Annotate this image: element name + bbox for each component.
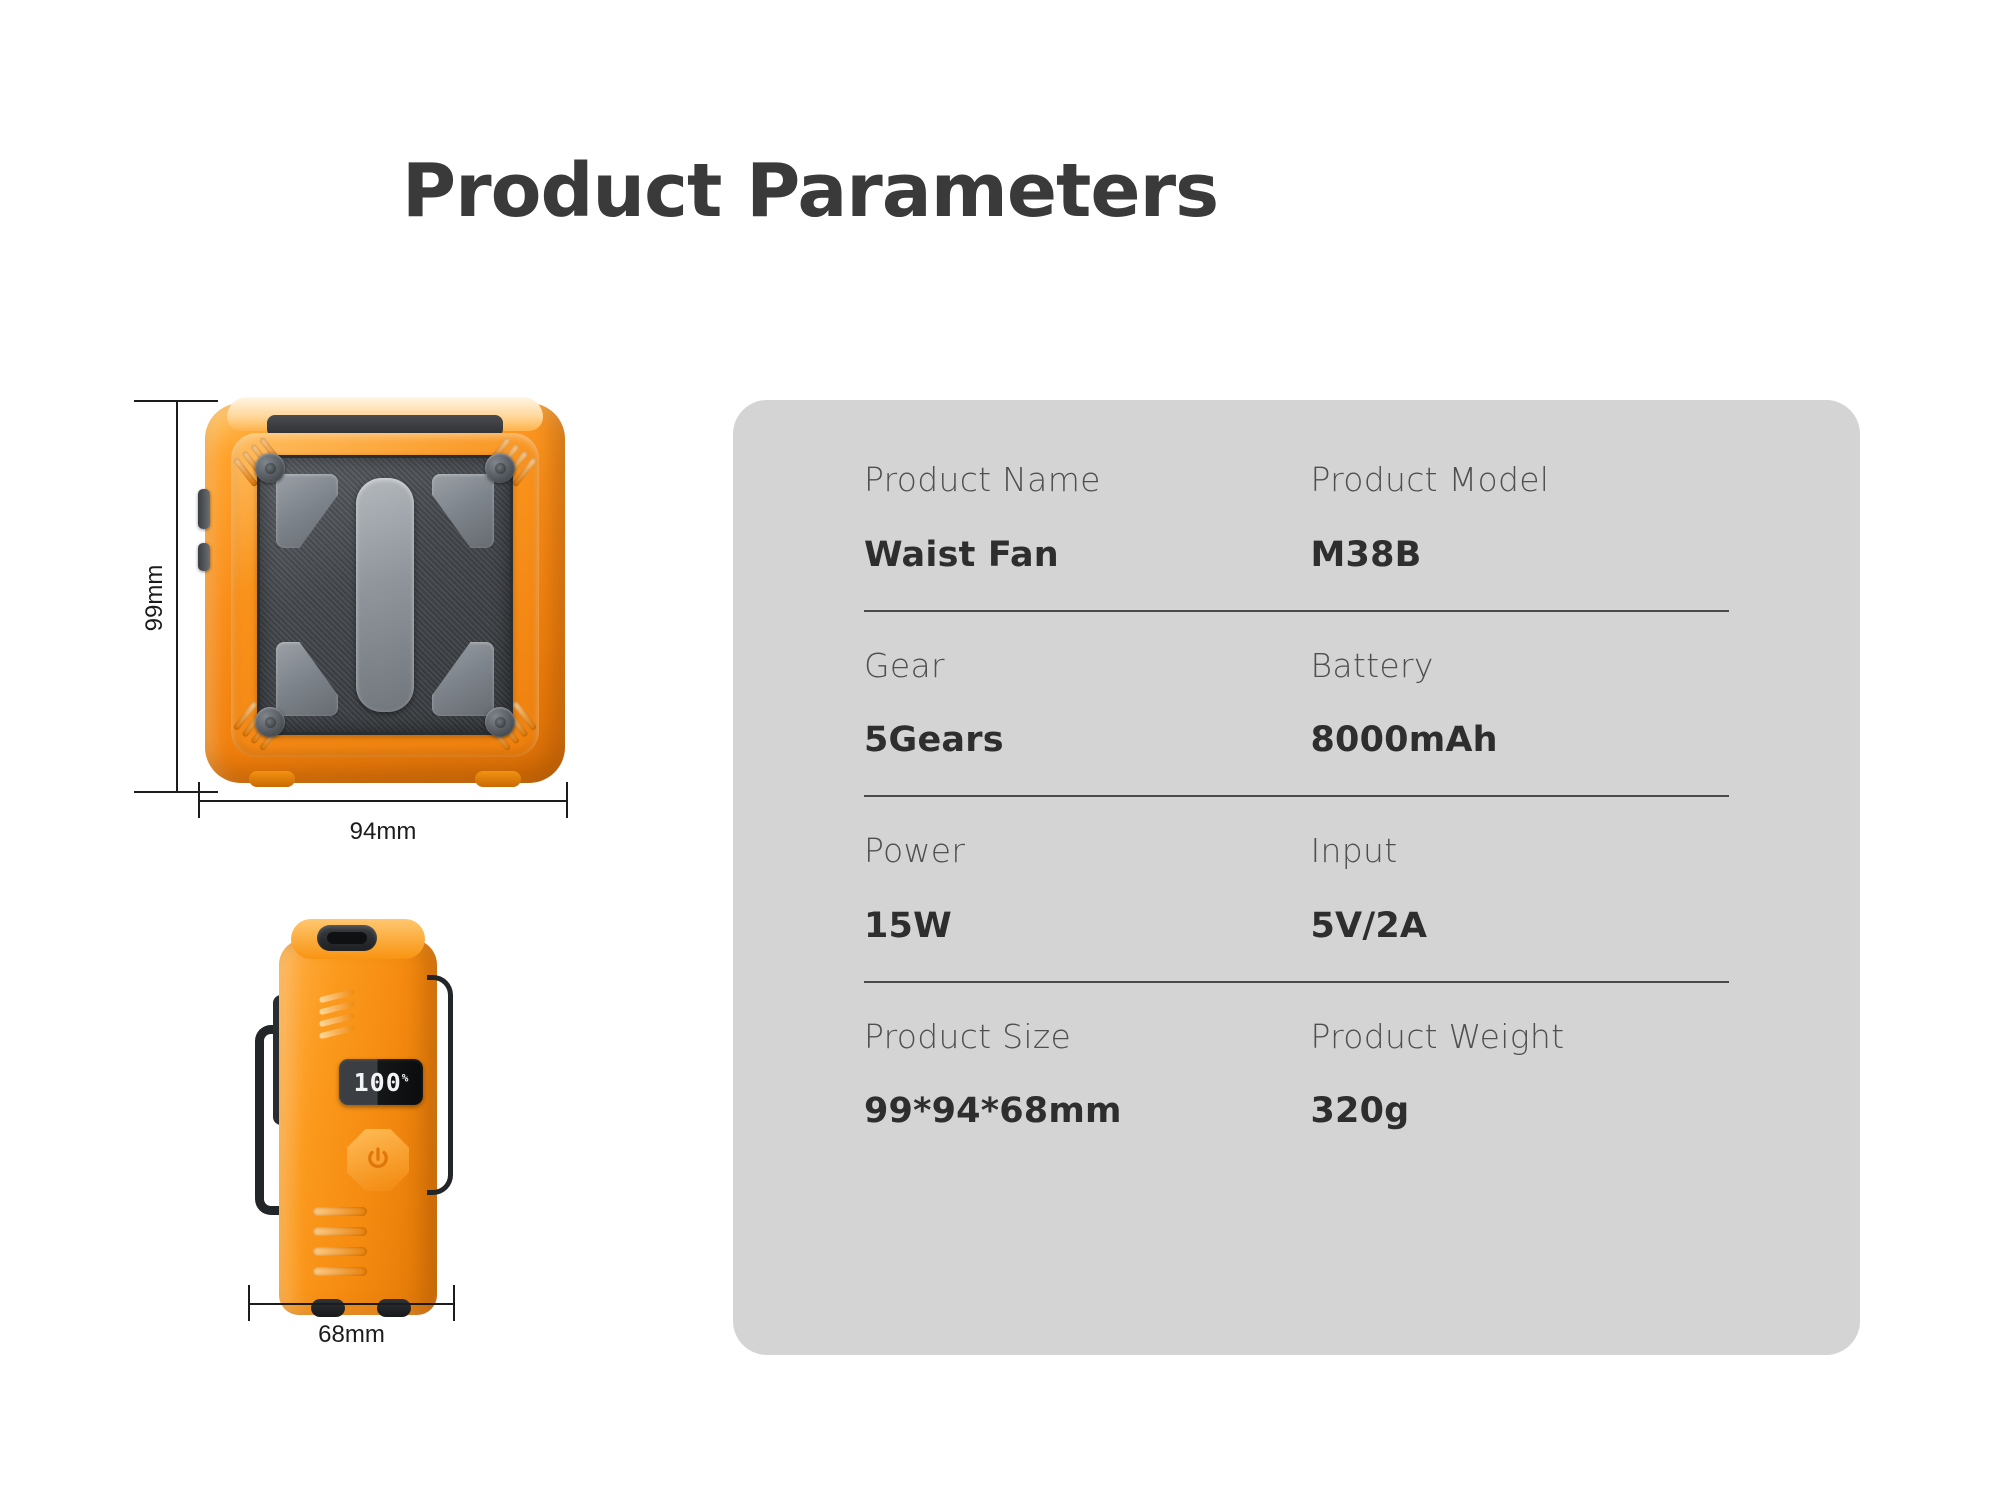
front-side-button-lower bbox=[198, 543, 210, 571]
spec-row: Power 15W Input 5V/2A bbox=[864, 795, 1729, 981]
height-dimension-tick-bottom bbox=[134, 791, 218, 793]
power-button[interactable] bbox=[347, 1129, 409, 1191]
side-body: 100% bbox=[279, 939, 437, 1315]
height-dimension-label: 99mm bbox=[141, 558, 169, 638]
battery-level-value: 100 bbox=[354, 1068, 402, 1097]
spec-label: Input bbox=[1311, 831, 1730, 871]
spec-value: 320g bbox=[1311, 1090, 1730, 1132]
spec-cell-battery: Battery 8000mAh bbox=[1297, 646, 1730, 762]
spec-label: Power bbox=[864, 831, 1297, 871]
spec-cell-power: Power 15W bbox=[864, 831, 1297, 947]
front-side-button-upper bbox=[198, 489, 210, 529]
spec-label: Battery bbox=[1311, 646, 1730, 686]
spec-label: Product Weight bbox=[1311, 1017, 1730, 1057]
front-grille-wing-top-right bbox=[432, 474, 494, 548]
spec-card: Product Name Waist Fan Product Model M38… bbox=[733, 400, 1860, 1355]
spec-cell-input: Input 5V/2A bbox=[1297, 831, 1730, 947]
spec-row: Product Size 99*94*68mm Product Weight 3… bbox=[864, 981, 1729, 1167]
front-grille-wing-bottom-right bbox=[432, 642, 494, 716]
spec-value: Waist Fan bbox=[864, 534, 1297, 576]
front-grille-wing-bottom-left bbox=[276, 642, 338, 716]
front-carbon-panel bbox=[257, 455, 513, 735]
side-rib-1 bbox=[313, 1207, 367, 1216]
spec-row: Product Name Waist Fan Product Model M38… bbox=[864, 460, 1729, 610]
side-foot-right bbox=[377, 1299, 411, 1317]
waist-fan-front-view bbox=[205, 403, 565, 783]
front-foot-right bbox=[475, 771, 521, 787]
front-screw-bottom-right bbox=[485, 707, 515, 737]
front-foot-left bbox=[249, 771, 295, 787]
side-vent-4 bbox=[319, 1025, 355, 1040]
spec-value: 99*94*68mm bbox=[864, 1090, 1297, 1132]
power-icon bbox=[363, 1145, 393, 1175]
waist-fan-side-view: 100% bbox=[255, 915, 455, 1315]
side-rib-3 bbox=[313, 1247, 367, 1256]
spec-label: Product Name bbox=[864, 460, 1297, 500]
front-grille-wing-top-left bbox=[276, 474, 338, 548]
spec-label: Product Size bbox=[864, 1017, 1297, 1057]
spec-value: 5V/2A bbox=[1311, 905, 1730, 947]
depth-dimension-line bbox=[248, 1303, 455, 1305]
spec-cell-product-name: Product Name Waist Fan bbox=[864, 460, 1297, 576]
depth-dimension-label: 68mm bbox=[248, 1321, 455, 1349]
spec-cell-product-size: Product Size 99*94*68mm bbox=[864, 1017, 1297, 1133]
side-belt-clip bbox=[427, 975, 453, 1195]
side-hook bbox=[317, 925, 377, 951]
spec-cell-gear: Gear 5Gears bbox=[864, 646, 1297, 762]
spec-value: 5Gears bbox=[864, 719, 1297, 761]
front-screw-bottom-left bbox=[255, 707, 285, 737]
width-dimension-tick-right bbox=[566, 782, 568, 818]
battery-level-unit: % bbox=[402, 1071, 409, 1084]
spec-value: 8000mAh bbox=[1311, 719, 1730, 761]
spec-label: Product Model bbox=[1311, 460, 1730, 500]
spec-value: M38B bbox=[1311, 534, 1730, 576]
height-dimension-line bbox=[176, 400, 178, 793]
width-dimension-label: 94mm bbox=[198, 818, 568, 846]
front-screw-top-right bbox=[485, 453, 515, 483]
side-foot-left bbox=[311, 1299, 345, 1317]
side-rib-2 bbox=[313, 1227, 367, 1236]
depth-dimension-tick-right bbox=[453, 1285, 455, 1321]
spec-cell-product-weight: Product Weight 320g bbox=[1297, 1017, 1730, 1133]
front-center-pill bbox=[356, 478, 414, 712]
side-rib-4 bbox=[313, 1267, 367, 1276]
spec-row: Gear 5Gears Battery 8000mAh bbox=[864, 610, 1729, 796]
spec-value: 15W bbox=[864, 905, 1297, 947]
width-dimension-line bbox=[198, 800, 568, 802]
battery-level-display: 100% bbox=[339, 1059, 423, 1105]
spec-cell-product-model: Product Model M38B bbox=[1297, 460, 1730, 576]
front-screw-top-left bbox=[255, 453, 285, 483]
height-dimension-tick-top bbox=[134, 400, 218, 402]
width-dimension-tick-left bbox=[198, 782, 200, 818]
product-views-panel: 99mm 94mm bbox=[0, 0, 620, 1500]
spec-label: Gear bbox=[864, 646, 1297, 686]
depth-dimension-tick-left bbox=[248, 1285, 250, 1321]
spec-table: Product Name Waist Fan Product Model M38… bbox=[864, 460, 1729, 1166]
